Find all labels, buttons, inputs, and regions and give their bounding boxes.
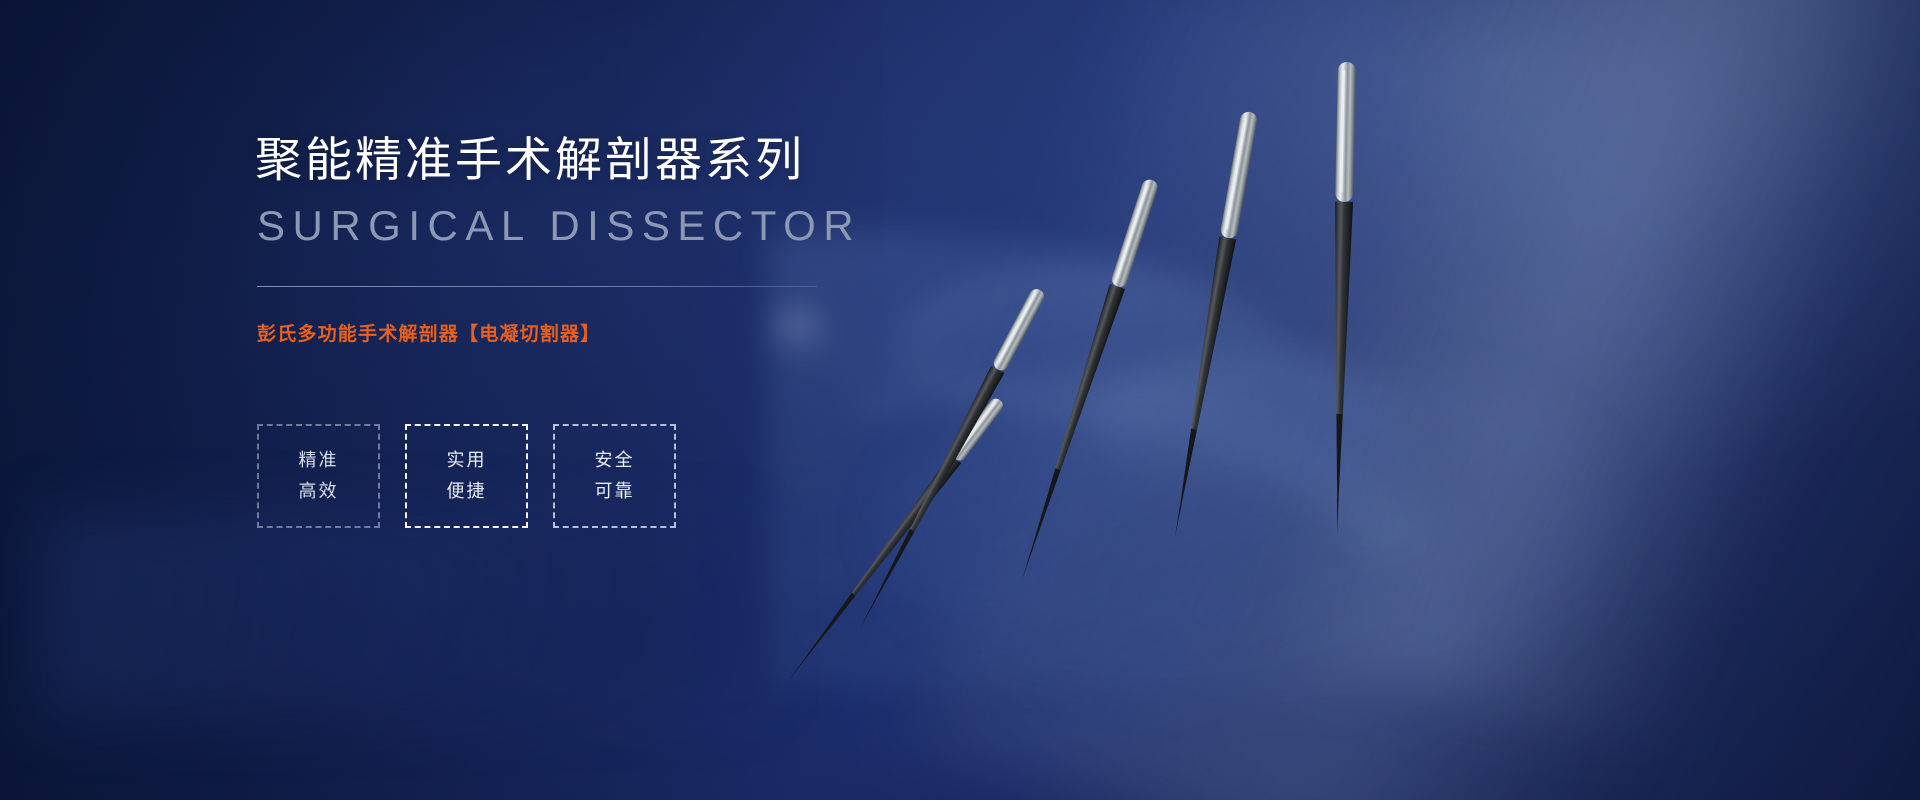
page-subtitle-english: SURGICAL DISSECTOR: [257, 201, 875, 251]
feature-box-precision[interactable]: 精准 高效: [257, 424, 380, 528]
feature-box-safety[interactable]: 安全 可靠: [553, 424, 676, 528]
feature-line-1: 实用: [447, 449, 487, 472]
page-title: 聚能精准手术解剖器系列: [255, 132, 875, 187]
hero-banner: 聚能精准手术解剖器系列 SURGICAL DISSECTOR 彭氏多功能手术解剖…: [0, 0, 1920, 800]
feature-line-2: 可靠: [595, 480, 635, 503]
banner-content: 聚能精准手术解剖器系列 SURGICAL DISSECTOR 彭氏多功能手术解剖…: [255, 132, 875, 528]
feature-box-group: 精准 高效 实用 便捷 安全 可靠: [257, 424, 875, 528]
feature-line-2: 便捷: [447, 480, 487, 503]
feature-line-2: 高效: [299, 480, 339, 503]
feature-line-1: 安全: [595, 449, 635, 472]
feature-line-1: 精准: [299, 449, 339, 472]
feature-box-practical[interactable]: 实用 便捷: [405, 424, 528, 528]
divider: [257, 286, 817, 287]
product-name-label: 彭氏多功能手术解剖器【电凝切割器】: [257, 319, 875, 346]
